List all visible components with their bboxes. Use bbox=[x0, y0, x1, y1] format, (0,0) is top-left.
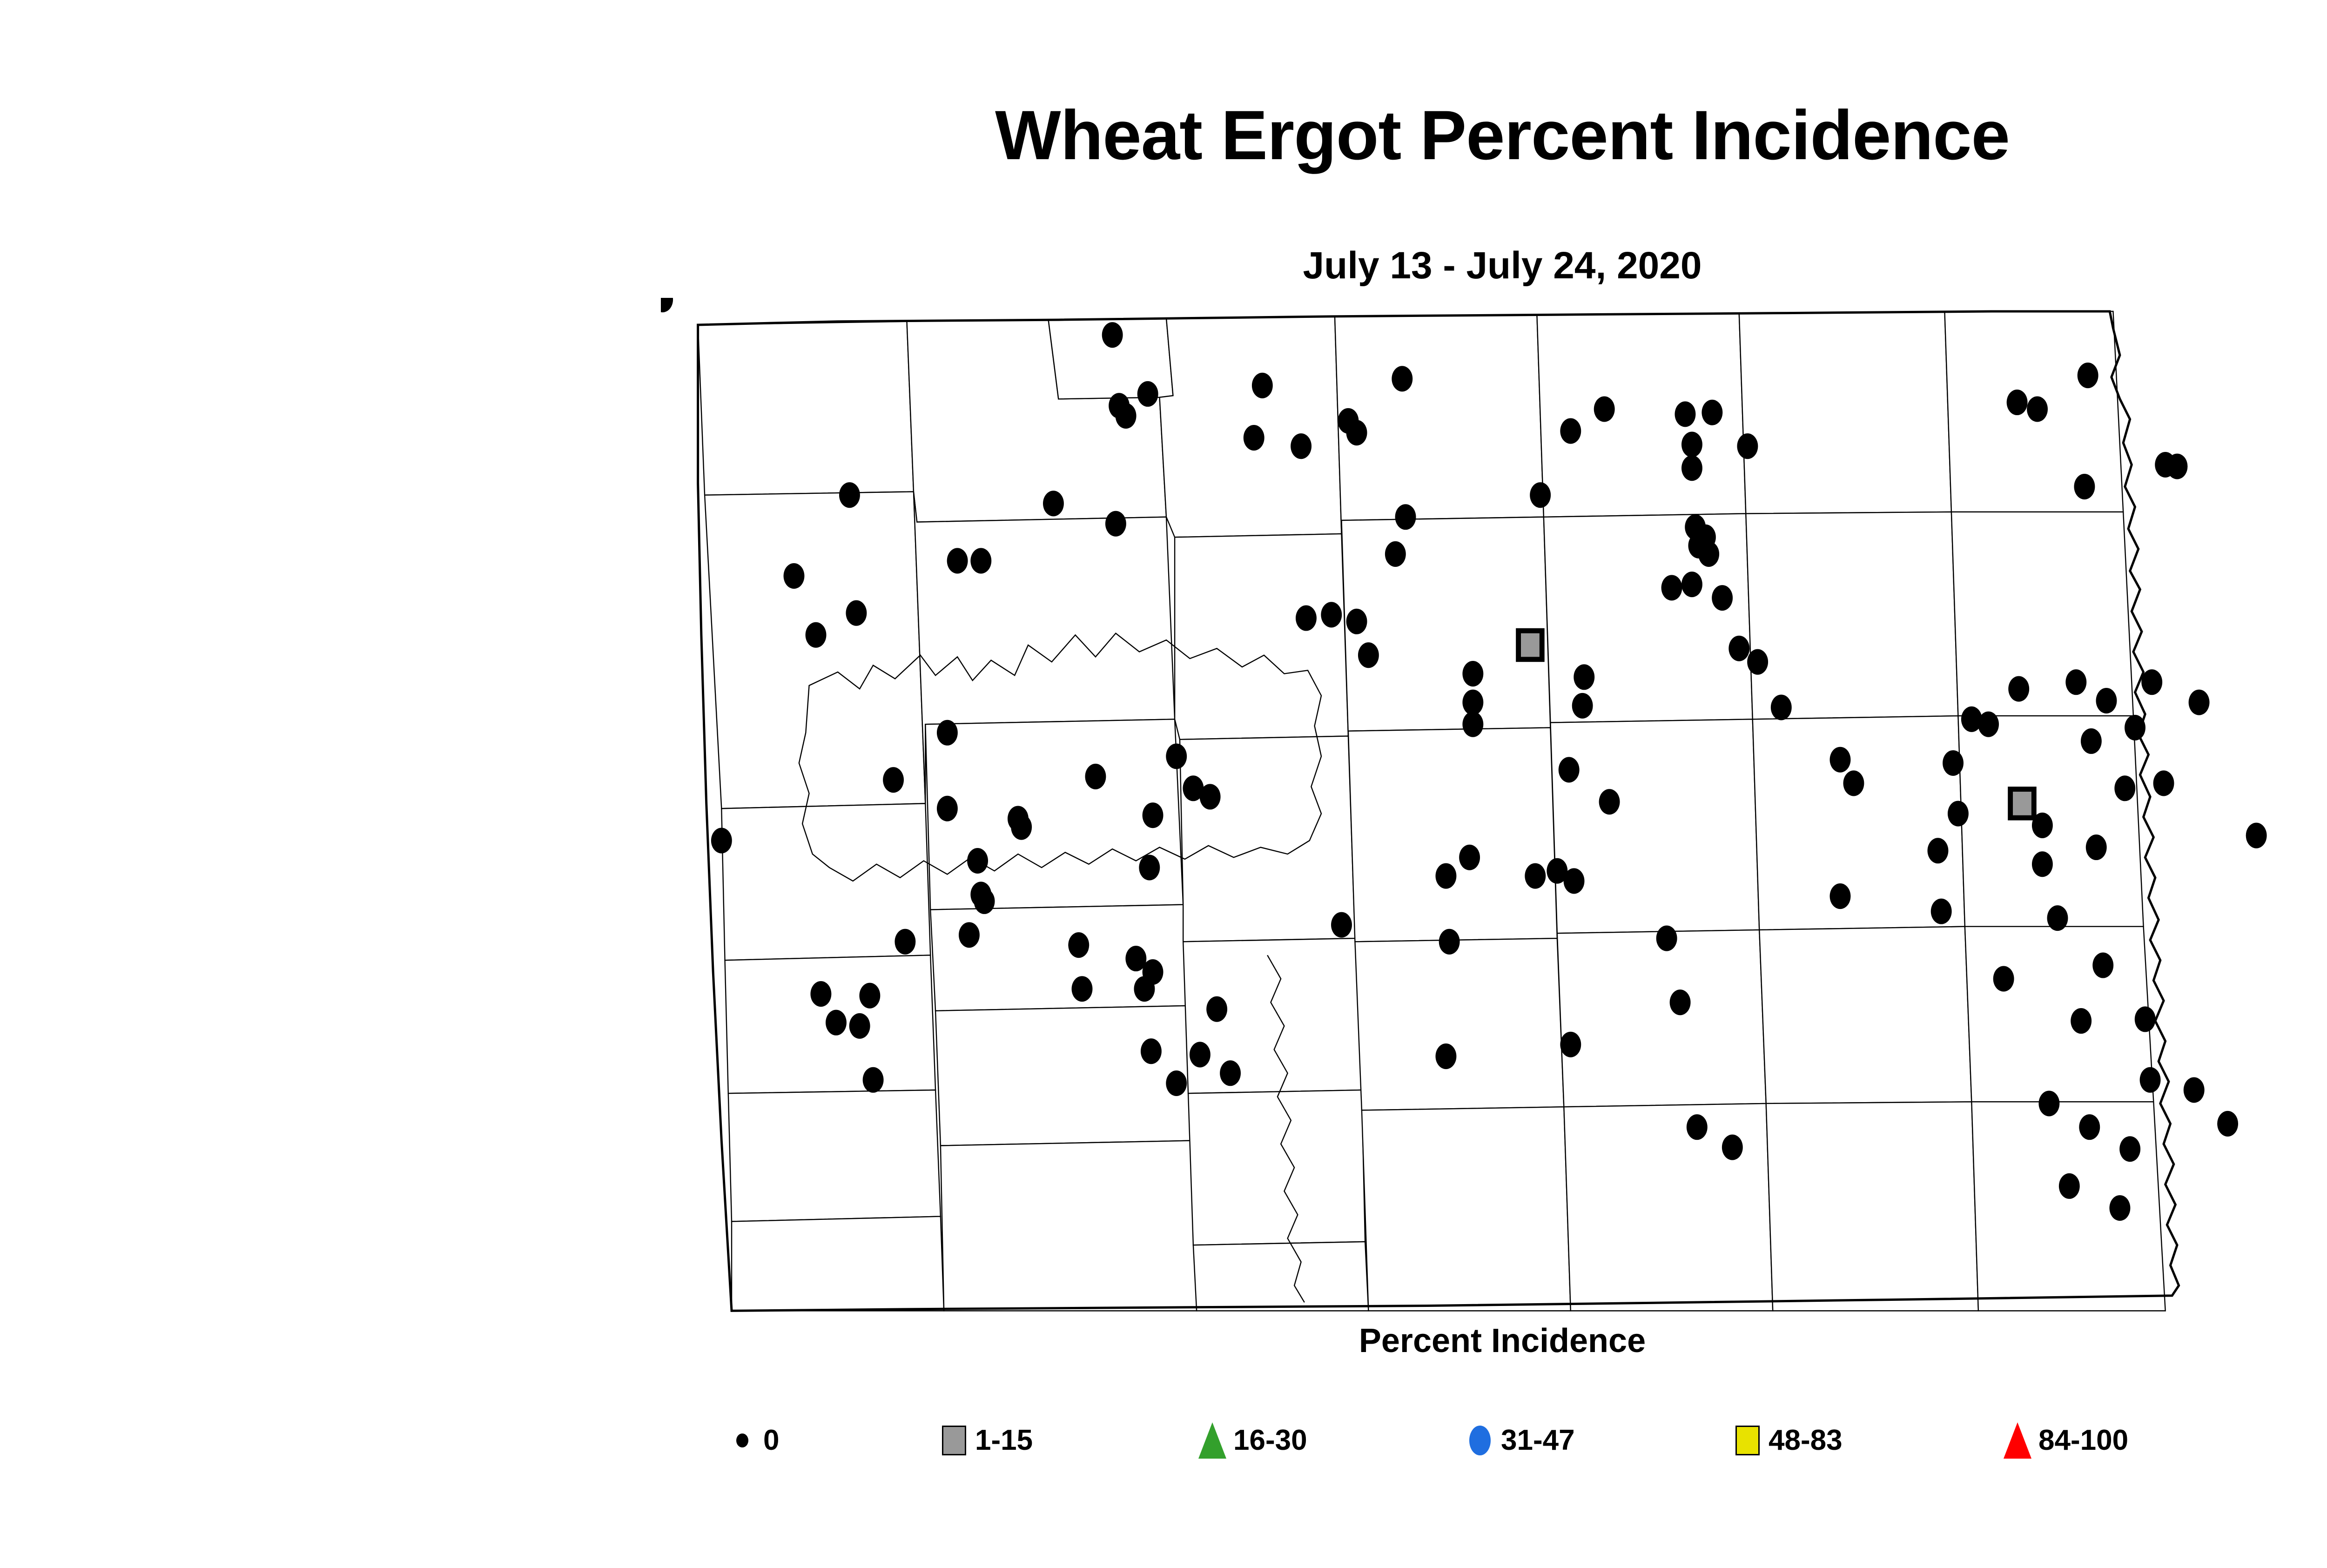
map-point-0[interactable] bbox=[1656, 926, 1677, 951]
map-point-0[interactable] bbox=[1771, 694, 1792, 720]
map-svg bbox=[661, 298, 2327, 1312]
map-point-0[interactable] bbox=[711, 828, 732, 854]
map-point-0[interactable] bbox=[1728, 636, 1749, 661]
map-point-0[interactable] bbox=[1661, 575, 1682, 600]
north-dakota-map[interactable] bbox=[661, 298, 2327, 1312]
ergot-incidence-map-page: Wheat Ergot Percent Incidence July 13 - … bbox=[0, 0, 2327, 1568]
county-polygon bbox=[935, 1006, 1193, 1146]
map-point-0[interactable] bbox=[2078, 363, 2098, 388]
map-point-0[interactable] bbox=[1681, 455, 1702, 481]
map-point-0[interactable] bbox=[2125, 715, 2145, 740]
map-point-0[interactable] bbox=[1206, 996, 1227, 1022]
map-point-0[interactable] bbox=[1462, 661, 1483, 686]
county-polygon bbox=[1188, 1090, 1365, 1245]
map-point-0[interactable] bbox=[1574, 664, 1594, 690]
map-point-0[interactable] bbox=[1102, 322, 1123, 348]
map-point-0[interactable] bbox=[1830, 883, 1851, 909]
map-point-0[interactable] bbox=[1085, 764, 1106, 789]
map-point-0[interactable] bbox=[1011, 814, 1032, 840]
map-point-0[interactable] bbox=[1747, 649, 1768, 675]
map-point-0[interactable] bbox=[1931, 899, 1952, 924]
map-point-0[interactable] bbox=[2096, 688, 2117, 713]
map-point-0[interactable] bbox=[1395, 504, 1416, 530]
county-polygon bbox=[1759, 927, 1971, 1104]
map-point-0[interactable] bbox=[1670, 989, 1691, 1015]
map-point-0[interactable] bbox=[1137, 381, 1158, 407]
map-point-0[interactable] bbox=[883, 767, 904, 793]
map-point-0[interactable] bbox=[2114, 775, 2135, 801]
legend-glyph bbox=[2004, 1422, 2031, 1459]
map-point-1-15[interactable] bbox=[1519, 631, 1542, 660]
county-polygon bbox=[1362, 1107, 1571, 1311]
map-point-0[interactable] bbox=[974, 888, 995, 914]
map-point-0[interactable] bbox=[806, 622, 827, 648]
map-point-0[interactable] bbox=[1358, 642, 1379, 668]
map-point-0[interactable] bbox=[859, 983, 880, 1009]
map-point-0[interactable] bbox=[2086, 834, 2107, 860]
legend-square-icon bbox=[1731, 1417, 1764, 1464]
map-point-0[interactable] bbox=[1346, 609, 1367, 634]
county-polygon bbox=[1746, 512, 1958, 719]
map-point-0[interactable] bbox=[1462, 712, 1483, 737]
map-point-0[interactable] bbox=[1462, 690, 1483, 715]
map-point-0[interactable] bbox=[1943, 750, 1964, 776]
county-polygon bbox=[1971, 1102, 2165, 1311]
county-boundaries bbox=[698, 311, 2166, 1311]
county-polygon bbox=[1193, 1242, 1368, 1311]
map-point-0[interactable] bbox=[784, 563, 805, 589]
map-point-0[interactable] bbox=[1830, 747, 1851, 773]
map-point-0[interactable] bbox=[1948, 801, 1969, 827]
map-point-0[interactable] bbox=[1560, 418, 1581, 444]
map-point-0[interactable] bbox=[1843, 770, 1864, 796]
map-point-0[interactable] bbox=[1252, 373, 1273, 398]
county-polygon bbox=[1341, 517, 1550, 736]
legend: 01-1516-3031-4748-8384-100 bbox=[726, 1406, 2280, 1475]
map-point-0[interactable] bbox=[1525, 863, 1546, 889]
map-point-0[interactable] bbox=[1978, 712, 1999, 737]
map-point-0[interactable] bbox=[1200, 784, 1221, 809]
county-polygon bbox=[728, 1090, 941, 1221]
map-point-0[interactable] bbox=[2081, 728, 2102, 754]
map-point-0[interactable] bbox=[1599, 789, 1620, 814]
map-point-0[interactable] bbox=[2059, 1173, 2080, 1199]
map-point-0[interactable] bbox=[1392, 366, 1412, 391]
map-point-0[interactable] bbox=[1166, 1070, 1187, 1096]
map-point-0[interactable] bbox=[2189, 690, 2210, 715]
map-point-0[interactable] bbox=[1116, 403, 1137, 429]
map-point-0[interactable] bbox=[1698, 541, 1719, 567]
map-point-0[interactable] bbox=[937, 796, 958, 821]
map-point-0[interactable] bbox=[1439, 929, 1460, 955]
legend-glyph bbox=[1198, 1422, 1226, 1459]
map-point-0[interactable] bbox=[2092, 952, 2113, 978]
county-polygon bbox=[732, 1217, 944, 1311]
map-point-0[interactable] bbox=[1559, 757, 1580, 782]
legend-glyph bbox=[736, 1433, 748, 1447]
legend-item-label: 1-15 bbox=[975, 1426, 1033, 1455]
county-polygon bbox=[705, 491, 925, 808]
map-point-0[interactable] bbox=[1594, 396, 1615, 422]
county-polygon bbox=[1965, 927, 2153, 1102]
county-polygon bbox=[1753, 716, 1965, 930]
map-point-0[interactable] bbox=[1572, 693, 1593, 719]
legend-item-84-100[interactable]: 84-100 bbox=[2001, 1406, 2128, 1475]
county-polygon bbox=[1348, 727, 1557, 942]
map-point-0[interactable] bbox=[1993, 966, 2014, 991]
map-point-0[interactable] bbox=[1530, 482, 1551, 508]
map-point-0[interactable] bbox=[2008, 676, 2029, 702]
legend-glyph bbox=[1735, 1426, 1760, 1455]
map-point-0[interactable] bbox=[2119, 1136, 2140, 1162]
map-point-0[interactable] bbox=[2153, 770, 2174, 796]
county-polygon bbox=[1564, 1104, 1773, 1311]
legend-glyph bbox=[1469, 1426, 1491, 1455]
map-point-0[interactable] bbox=[2140, 1067, 2161, 1093]
legend-triangle-icon bbox=[2001, 1417, 2034, 1464]
map-point-0[interactable] bbox=[826, 1010, 847, 1036]
legend-item-48-83[interactable]: 48-83 bbox=[1731, 1406, 1843, 1475]
map-point-0[interactable] bbox=[1385, 541, 1406, 567]
map-point-0[interactable] bbox=[2074, 474, 2095, 499]
map-point-0[interactable] bbox=[2167, 454, 2188, 479]
map-point-0[interactable] bbox=[2217, 1111, 2238, 1137]
map-point-0[interactable] bbox=[1072, 976, 1093, 1002]
legend-item-1-15[interactable]: 1-15 bbox=[938, 1406, 1033, 1475]
map-point-0[interactable] bbox=[2141, 669, 2162, 695]
map-point-0[interactable] bbox=[1681, 432, 1702, 458]
map-point-0[interactable] bbox=[1139, 855, 1160, 880]
map-point-0[interactable] bbox=[1190, 1042, 1211, 1067]
map-point-0[interactable] bbox=[2246, 823, 2267, 848]
map-point-0[interactable] bbox=[1712, 585, 1733, 611]
county-polygon bbox=[1739, 311, 1951, 514]
map-point-0[interactable] bbox=[846, 600, 867, 626]
map-point-0[interactable] bbox=[2032, 851, 2053, 877]
map-point-0[interactable] bbox=[1220, 1060, 1241, 1086]
map-point-0[interactable] bbox=[894, 929, 915, 955]
map-point-0[interactable] bbox=[863, 1067, 884, 1093]
legend-item-label: 48-83 bbox=[1769, 1426, 1843, 1455]
map-point-1-15[interactable] bbox=[2011, 789, 2034, 818]
map-point-0[interactable] bbox=[1737, 433, 1758, 459]
map-point-0[interactable] bbox=[1105, 511, 1126, 537]
county-polygon bbox=[1180, 736, 1355, 942]
map-point-0[interactable] bbox=[839, 482, 860, 508]
map-point-0[interactable] bbox=[1928, 838, 1949, 863]
legend-circle-icon bbox=[1464, 1417, 1496, 1464]
county-polygon bbox=[1557, 930, 1766, 1107]
map-point-0[interactable] bbox=[959, 922, 980, 948]
legend-item-label: 31-47 bbox=[1501, 1426, 1575, 1455]
legend-circle-icon bbox=[726, 1417, 759, 1464]
map-point-0[interactable] bbox=[2184, 1077, 2205, 1103]
page-subtitle: July 13 - July 24, 2020 bbox=[0, 247, 2327, 285]
legend-item-16-30[interactable]: 16-30 bbox=[1196, 1406, 1307, 1475]
county-polygon bbox=[941, 1141, 1197, 1311]
map-point-0[interactable] bbox=[849, 1013, 870, 1039]
county-polygon bbox=[1766, 1102, 1978, 1311]
legend-triangle-icon bbox=[1196, 1417, 1229, 1464]
map-point-0[interactable] bbox=[1435, 1043, 1456, 1069]
map-point-0[interactable] bbox=[1291, 433, 1311, 459]
legend-square-icon bbox=[938, 1417, 970, 1464]
map-point-0[interactable] bbox=[2071, 1008, 2092, 1034]
map-point-0[interactable] bbox=[1346, 420, 1367, 445]
map-point-0[interactable] bbox=[1321, 602, 1342, 627]
legend-item-31-47[interactable]: 31-47 bbox=[1464, 1406, 1575, 1475]
map-point-0[interactable] bbox=[1296, 606, 1317, 631]
map-point-0[interactable] bbox=[1564, 868, 1585, 894]
map-point-0[interactable] bbox=[661, 298, 673, 312]
county-polygon bbox=[1355, 938, 1564, 1110]
map-point-0[interactable] bbox=[937, 720, 958, 746]
county-polygon bbox=[1335, 315, 1544, 534]
county-polygon bbox=[1544, 514, 1753, 723]
map-point-0[interactable] bbox=[2079, 1114, 2100, 1140]
legend-item-label: 0 bbox=[763, 1426, 779, 1455]
map-point-0[interactable] bbox=[1141, 1038, 1162, 1064]
map-point-0[interactable] bbox=[2007, 390, 2028, 415]
map-point-0[interactable] bbox=[1134, 976, 1155, 1002]
county-polygon bbox=[1951, 512, 2133, 716]
map-point-0[interactable] bbox=[2065, 669, 2086, 695]
page-title: Wheat Ergot Percent Incidence bbox=[0, 100, 2327, 170]
map-point-0[interactable] bbox=[1435, 863, 1456, 889]
map-point-0[interactable] bbox=[1043, 491, 1064, 516]
legend-item-0[interactable]: 0 bbox=[726, 1406, 779, 1475]
map-point-0[interactable] bbox=[2038, 1090, 2059, 1116]
map-point-0[interactable] bbox=[1681, 572, 1702, 597]
map-point-0[interactable] bbox=[2027, 396, 2048, 422]
legend-item-label: 84-100 bbox=[2038, 1426, 2128, 1455]
map-point-0[interactable] bbox=[810, 981, 831, 1007]
map-point-0[interactable] bbox=[2047, 905, 2068, 931]
map-point-0[interactable] bbox=[1166, 743, 1187, 769]
legend-item-label: 16-30 bbox=[1233, 1426, 1307, 1455]
map-point-0[interactable] bbox=[967, 848, 988, 874]
map-point-0[interactable] bbox=[1687, 1114, 1708, 1140]
map-point-0[interactable] bbox=[1068, 932, 1089, 958]
map-point-0[interactable] bbox=[1560, 1032, 1581, 1057]
map-point-0[interactable] bbox=[1244, 425, 1264, 451]
map-point-0[interactable] bbox=[1143, 802, 1163, 828]
county-polygon bbox=[1550, 719, 1759, 933]
map-point-0[interactable] bbox=[2135, 1006, 2156, 1032]
map-point-0[interactable] bbox=[1722, 1135, 1743, 1160]
legend-glyph bbox=[942, 1426, 966, 1455]
map-point-0[interactable] bbox=[1675, 401, 1696, 427]
county-polygon bbox=[698, 322, 914, 495]
map-point-0[interactable] bbox=[947, 548, 968, 573]
county-polygon bbox=[1175, 534, 1348, 740]
map-point-0[interactable] bbox=[1702, 400, 1722, 425]
map-point-0[interactable] bbox=[2109, 1195, 2130, 1221]
map-point-0[interactable] bbox=[1459, 845, 1480, 870]
legend-title: Percent Incidence bbox=[0, 1324, 2327, 1358]
map-point-0[interactable] bbox=[970, 548, 991, 573]
map-point-0[interactable] bbox=[1331, 912, 1352, 938]
